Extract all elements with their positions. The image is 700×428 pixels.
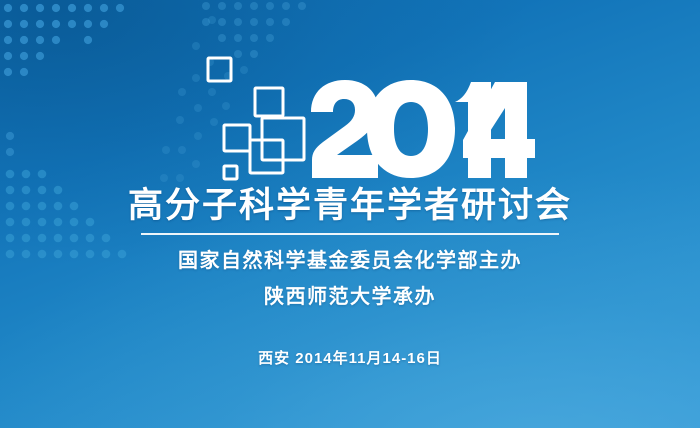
conference-poster: 高分子科学青年学者研讨会 国家自然科学基金委员会化学部主办 陕西师范大学承办 西… xyxy=(0,0,700,428)
dot-grid-icon-top-left xyxy=(4,4,76,76)
year-logo xyxy=(305,78,535,183)
title-divider xyxy=(141,233,559,235)
page-title: 高分子科学青年学者研讨会 xyxy=(0,186,700,226)
dot-grid-icon-left-mid xyxy=(6,132,14,156)
dot-grid-icon-top-left-b xyxy=(20,4,124,76)
dot-grid-icon-center-top xyxy=(202,2,306,58)
organizer-line-2: 陕西师范大学承办 xyxy=(0,280,700,314)
dot-grid-icon-mid-faint xyxy=(160,16,248,182)
date-location-line: 西安 2014年11月14-16日 xyxy=(0,347,700,368)
organizer-line-1: 国家自然科学基金委员会化学部主办 xyxy=(0,244,700,278)
poster-text-block: 高分子科学青年学者研讨会 国家自然科学基金委员会化学部主办 陕西师范大学承办 西… xyxy=(0,186,700,368)
